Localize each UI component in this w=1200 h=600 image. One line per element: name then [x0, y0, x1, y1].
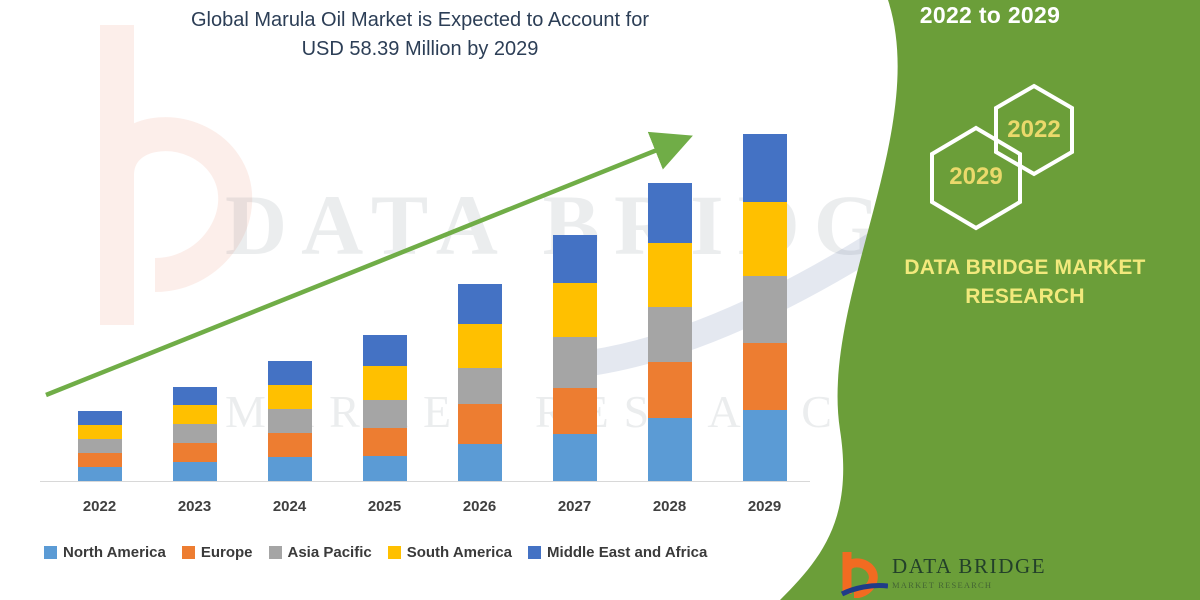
- legend-swatch-icon: [269, 546, 282, 559]
- legend-swatch-icon: [182, 546, 195, 559]
- bar-segment-2027-south-america: [553, 283, 597, 337]
- period-label: 2022 to 2029: [780, 0, 1200, 29]
- brand-name-line-2: RESEARCH: [860, 282, 1190, 311]
- legend-label: Europe: [201, 544, 253, 561]
- legend-item-south-america[interactable]: South America: [388, 544, 512, 561]
- bar-segment-2026-south-america: [458, 324, 502, 368]
- hexagon-2029-label: 2029: [926, 163, 1026, 191]
- bar-segment-2023-south-america: [173, 405, 217, 424]
- bar-segment-2028-south-america: [648, 243, 692, 307]
- data-bridge-logo-text: DATA BRIDGE: [892, 554, 1046, 579]
- hexagon-badges: 2022 2029: [926, 82, 1126, 222]
- bar-segment-2022-europe: [78, 453, 122, 467]
- x-axis-label-2022: 2022: [65, 498, 135, 515]
- bar-2022: [78, 411, 122, 481]
- x-axis-label-2025: 2025: [350, 498, 420, 515]
- x-axis-labels: 20222023202420252026202720282029: [40, 498, 800, 524]
- bar-segment-2027-europe: [553, 388, 597, 434]
- data-bridge-logo: DATA BRIDGE MARKET RESEARCH: [840, 548, 1100, 600]
- bar-segment-2024-north-america: [268, 457, 312, 481]
- legend-label: North America: [63, 544, 166, 561]
- x-axis-label-2023: 2023: [160, 498, 230, 515]
- bar-2024: [268, 361, 312, 481]
- bar-segment-2025-south-america: [363, 366, 407, 400]
- bar-segment-2023-north-america: [173, 462, 217, 481]
- bar-segment-2022-north-america: [78, 467, 122, 481]
- bar-segment-2023-asia-pacific: [173, 424, 217, 443]
- bar-2027: [553, 235, 597, 481]
- legend-label: South America: [407, 544, 512, 561]
- bar-2026: [458, 284, 502, 481]
- brand-name: DATA BRIDGE MARKET RESEARCH: [860, 253, 1190, 311]
- bar-segment-2028-europe: [648, 362, 692, 418]
- bar-segment-2027-asia-pacific: [553, 337, 597, 388]
- bar-segment-2024-europe: [268, 433, 312, 457]
- bar-2023: [173, 387, 217, 481]
- bar-segment-2026-north-america: [458, 444, 502, 481]
- chart-area: 20222023202420252026202720282029 North A…: [0, 0, 830, 600]
- x-axis-label-2024: 2024: [255, 498, 325, 515]
- legend-item-middle-east-and-africa[interactable]: Middle East and Africa: [528, 544, 707, 561]
- data-bridge-mark-icon: [840, 550, 888, 600]
- bar-segment-2026-asia-pacific: [458, 368, 502, 404]
- bar-segment-2022-asia-pacific: [78, 439, 122, 453]
- bar-segment-2022-middle-east-and-africa: [78, 411, 122, 425]
- bar-segment-2025-asia-pacific: [363, 400, 407, 428]
- bar-segment-2028-asia-pacific: [648, 307, 692, 362]
- bar-segment-2023-middle-east-and-africa: [173, 387, 217, 405]
- infographic-root: DATA BRIDGE MARKET RESEARCH Global Marul…: [0, 0, 1200, 600]
- bar-segment-2024-middle-east-and-africa: [268, 361, 312, 385]
- bar-segment-2027-north-america: [553, 434, 597, 481]
- hexagon-2029: 2029: [926, 124, 1026, 232]
- bar-segment-2028-north-america: [648, 418, 692, 481]
- bar-segment-2023-europe: [173, 443, 217, 462]
- chart-legend: North AmericaEuropeAsia PacificSouth Ame…: [44, 540, 723, 564]
- bar-segment-2025-europe: [363, 428, 407, 456]
- bar-segment-2026-europe: [458, 404, 502, 444]
- bar-series-group: [40, 100, 800, 481]
- x-axis-label-2026: 2026: [445, 498, 515, 515]
- x-axis-label-2028: 2028: [635, 498, 705, 515]
- x-axis-line: [40, 481, 810, 482]
- legend-item-asia-pacific[interactable]: Asia Pacific: [269, 544, 372, 561]
- legend-swatch-icon: [44, 546, 57, 559]
- bar-2025: [363, 335, 407, 481]
- legend-item-north-america[interactable]: North America: [44, 544, 166, 561]
- brand-name-line-1: DATA BRIDGE MARKET: [860, 253, 1190, 282]
- bar-2028: [648, 183, 692, 481]
- legend-label: Middle East and Africa: [547, 544, 707, 561]
- bar-segment-2026-middle-east-and-africa: [458, 284, 502, 324]
- bar-segment-2025-north-america: [363, 456, 407, 481]
- bar-segment-2028-middle-east-and-africa: [648, 183, 692, 243]
- legend-item-europe[interactable]: Europe: [182, 544, 253, 561]
- legend-label: Asia Pacific: [288, 544, 372, 561]
- data-bridge-logo-subtitle: MARKET RESEARCH: [892, 580, 992, 590]
- bar-segment-2024-south-america: [268, 385, 312, 409]
- bar-segment-2027-middle-east-and-africa: [553, 235, 597, 283]
- x-axis-label-2027: 2027: [540, 498, 610, 515]
- legend-swatch-icon: [388, 546, 401, 559]
- bar-segment-2022-south-america: [78, 425, 122, 439]
- legend-swatch-icon: [528, 546, 541, 559]
- bar-segment-2024-asia-pacific: [268, 409, 312, 433]
- bar-segment-2025-middle-east-and-africa: [363, 335, 407, 366]
